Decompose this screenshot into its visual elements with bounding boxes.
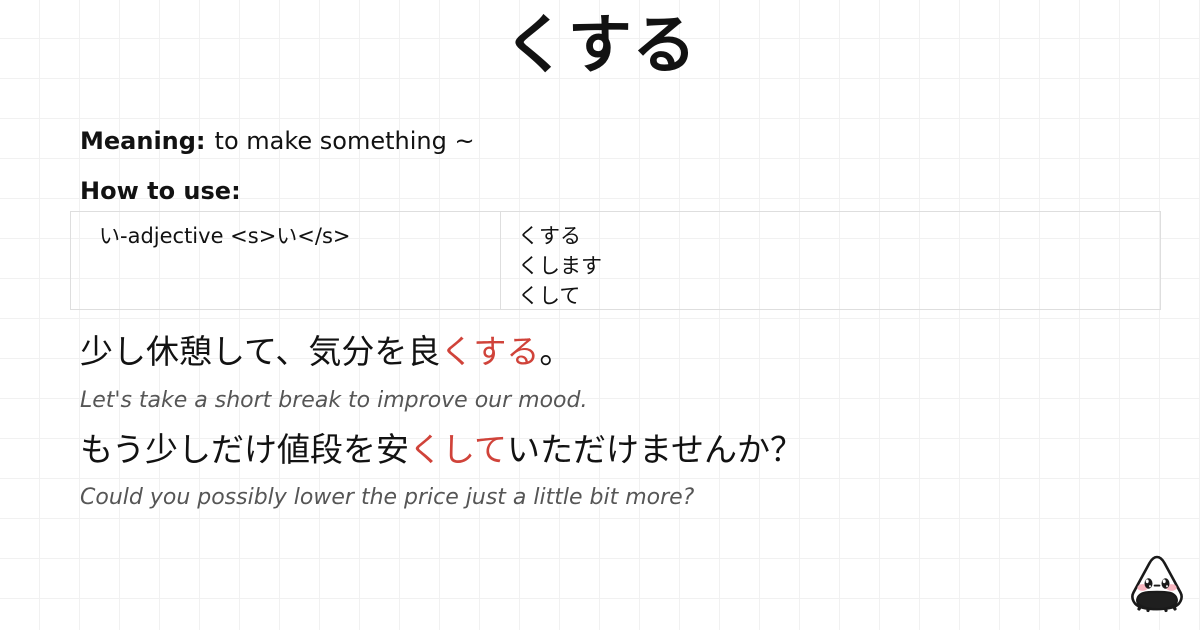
usage-table-cell-attaches-to: い-adjective <s>い</s> (71, 212, 501, 309)
usage-table-cell-forms: くする くします くして (501, 212, 1160, 309)
example-2-highlight: くして (409, 430, 507, 469)
example-2-prefix: もう少しだけ値段を安 (80, 430, 409, 469)
page-title: くする (0, 6, 1200, 86)
grammar-card: くする Meaning:to make something ~ How to u… (0, 0, 1200, 630)
meaning-label: Meaning: (80, 127, 206, 155)
example-2-translation: Could you possibly lower the price just … (80, 483, 694, 513)
example-1-highlight: くする (440, 332, 539, 371)
example-1-translation: Let's take a short break to improve our … (80, 386, 587, 416)
example-sentence-2: もう少しだけ値段を安くしていただけませんか？ (80, 428, 803, 472)
onigiri-mascot-icon (1125, 552, 1189, 616)
example-2-suffix: いただけませんか？ (507, 430, 803, 469)
example-1-suffix: 。 (539, 332, 572, 371)
meaning-value: to make something ~ (215, 127, 475, 155)
meaning-row: Meaning:to make something ~ (80, 124, 475, 158)
how-to-use-label: How to use: (80, 174, 241, 208)
usage-table: い-adjective <s>い</s> くする くします くして (70, 211, 1161, 310)
example-sentence-1: 少し休憩して、気分を良くする。 (80, 330, 572, 374)
example-1-prefix: 少し休憩して、気分を良 (80, 332, 440, 371)
